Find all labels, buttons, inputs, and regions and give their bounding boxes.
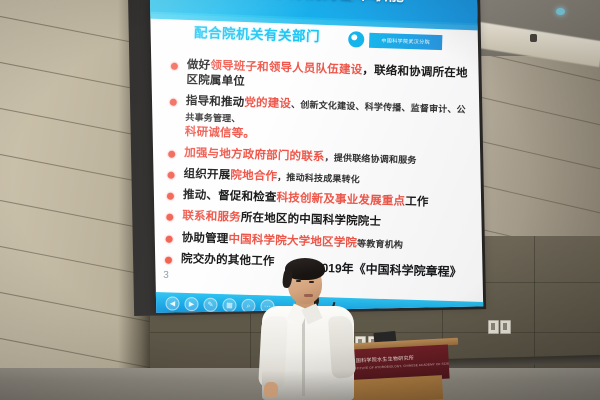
bullet-lead: 推动、督促和检查: [183, 189, 277, 204]
cas-logo-text: 中国科学院武汉分院: [369, 32, 442, 49]
bullet-tail: 等教育机构: [357, 238, 403, 249]
next-slide-icon[interactable]: ▶: [184, 297, 198, 311]
speaker-mouth: [304, 294, 313, 297]
list-item: 做好领导班子和领导人员队伍建设，联络和协调所在地区院属单位: [168, 58, 469, 97]
ceiling-speaker-icon: [530, 34, 537, 42]
bullet-tail: ，提供联络协调和服务: [324, 152, 416, 165]
list-item: 推动、督促和检查科技创新及事业发展重点工作: [165, 188, 465, 212]
bullet-text: 联系和服务所在地区的中国科学院院士: [182, 209, 464, 233]
bullet-highlight: 院地合作: [230, 170, 277, 183]
cas-institute-logo: 中国科学院武汉分院: [346, 28, 443, 53]
zoom-tool-icon[interactable]: ⌕: [241, 299, 255, 313]
pen-tool-icon[interactable]: ✎: [203, 298, 217, 312]
bullet-dot-icon: [167, 172, 174, 179]
bullet-tail: ，推动科技成果转化: [277, 172, 360, 185]
list-item: 组织开展院地合作，推动科技成果转化: [165, 167, 465, 191]
list-item: 联系和服务所在地区的中国科学院院士: [164, 209, 464, 233]
bullet-text: 组织开展院地合作，推动科技成果转化: [183, 167, 465, 191]
conference-room-scene: 中科院赋予分院的基本职能 配合院机关有关部门 中国科学院武汉分院 做好领导班子和…: [0, 0, 600, 400]
all-slides-icon[interactable]: ▦: [222, 298, 236, 312]
slide-bullet-list: 做好领导班子和领导人员队伍建设，联络和协调所在地区院属单位 指导和推动党的建设、…: [163, 58, 469, 282]
bullet-dot-icon: [166, 214, 173, 221]
bullet-dot-icon: [167, 193, 174, 200]
list-item: 指导和推动党的建设、创新文化建设、科学传播、监督审计、公共事务管理、 科研诚信等…: [167, 94, 468, 149]
bullet-tail: 所在地区的中国科学院院士: [241, 212, 382, 228]
bullet-lead: 组织开展: [183, 168, 230, 181]
bullet-highlight: 领导班子和领导人员队伍建设: [210, 60, 362, 77]
bullet-highlight: 科技创新及事业发展重点: [276, 192, 405, 208]
bullet-highlight: 党的建设: [244, 97, 291, 110]
cas-emblem-icon: [346, 29, 367, 50]
bullet-dot-icon: [165, 256, 172, 263]
bullet-dot-icon: [166, 235, 173, 242]
bullet-text: 推动、督促和检查科技创新及事业发展重点工作: [183, 188, 465, 212]
bullet-lead: 做好: [187, 59, 211, 72]
wall-outlet: [488, 320, 499, 334]
speaker-person: [258, 258, 368, 400]
bullet-text: 做好领导班子和领导人员队伍建设，联络和协调所在地区院属单位: [186, 58, 469, 97]
bullet-dot-icon: [168, 151, 175, 158]
bullet-dot-icon: [170, 99, 177, 106]
bullet-lead: 指导和推动: [186, 96, 245, 110]
bullet-highlight: 加强与地方政府部门的联系: [184, 147, 325, 163]
previous-slide-icon[interactable]: ◀: [165, 296, 179, 310]
ceiling-indicator-light: [556, 8, 565, 15]
speaker-eye-right: [309, 281, 314, 283]
speaker-shirt-placket: [302, 316, 305, 396]
bullet-text: 加强与地方政府部门的联系，提供联络协调和服务: [184, 146, 466, 170]
speaker-hand: [264, 382, 278, 398]
bullet-dot-icon: [171, 63, 178, 70]
list-item: 协助管理中国科学院大学地区学院等教育机构: [163, 230, 463, 254]
bullet-tail: 工作: [405, 196, 429, 209]
bullet-highlight: 中国科学院大学地区学院: [228, 233, 357, 249]
bullet-highlight: 联系和服务: [182, 210, 241, 224]
bullet-text: 协助管理中国科学院大学地区学院等教育机构: [181, 231, 463, 255]
list-item: 加强与地方政府部门的联系，提供联络协调和服务: [166, 145, 466, 169]
bullet-lead: 协助管理: [181, 232, 228, 245]
speaker-eye-left: [296, 280, 301, 282]
wall-outlet: [500, 320, 511, 334]
slide-number: 3: [163, 270, 169, 281]
